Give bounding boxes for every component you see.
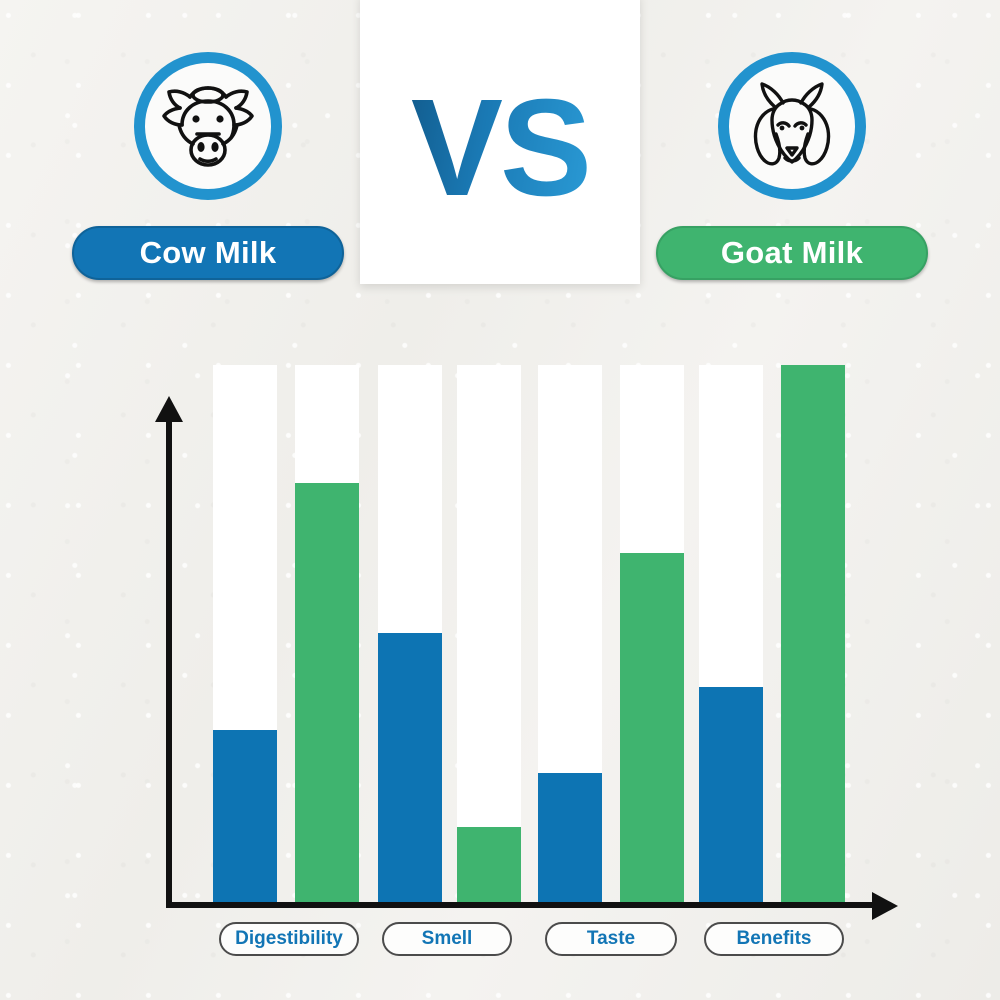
- cow-milk-label: Cow Milk: [140, 235, 277, 271]
- comparison-header: Cow Milk VS: [0, 0, 1000, 300]
- goat-icon-circle: [718, 52, 866, 200]
- bar-goat-digestibility[interactable]: [295, 483, 359, 902]
- bar-goat-benefits[interactable]: [781, 365, 845, 902]
- category-label-taste[interactable]: Taste: [545, 922, 677, 956]
- goat-milk-label-pill[interactable]: Goat Milk: [656, 226, 928, 280]
- versus-card: VS: [360, 0, 640, 284]
- cow-icon-circle: [134, 52, 282, 200]
- bar-cow-smell[interactable]: [378, 633, 442, 902]
- category-label-digestibility[interactable]: Digestibility: [219, 922, 359, 956]
- goat-milk-label: Goat Milk: [721, 235, 863, 271]
- cow-milk-label-pill[interactable]: Cow Milk: [72, 226, 344, 280]
- comparison-bar-chart: Digestibility Smell Taste Benefits: [0, 300, 1000, 1000]
- category-label-text: Smell: [422, 928, 473, 950]
- bar-goat-smell[interactable]: [457, 827, 521, 902]
- category-label-benefits[interactable]: Benefits: [704, 922, 844, 956]
- category-label-text: Digestibility: [235, 928, 343, 950]
- bar-cow-benefits[interactable]: [699, 687, 763, 902]
- cow-milk-panel: Cow Milk: [48, 52, 368, 280]
- goat-head-icon: [739, 78, 845, 174]
- category-label-smell[interactable]: Smell: [382, 922, 512, 956]
- category-label-text: Taste: [587, 928, 635, 950]
- plot-area: [172, 362, 878, 902]
- goat-milk-panel: Goat Milk: [632, 52, 952, 280]
- category-label-text: Benefits: [737, 928, 812, 950]
- column-background: [457, 365, 521, 902]
- bar-cow-digestibility[interactable]: [213, 730, 277, 902]
- cow-head-icon: [155, 78, 261, 174]
- x-axis-line: [166, 902, 878, 908]
- bar-cow-taste[interactable]: [538, 773, 602, 902]
- category-axis-labels: Digestibility Smell Taste Benefits: [0, 922, 1000, 958]
- bar-goat-taste[interactable]: [620, 553, 684, 902]
- versus-label: VS: [411, 79, 589, 217]
